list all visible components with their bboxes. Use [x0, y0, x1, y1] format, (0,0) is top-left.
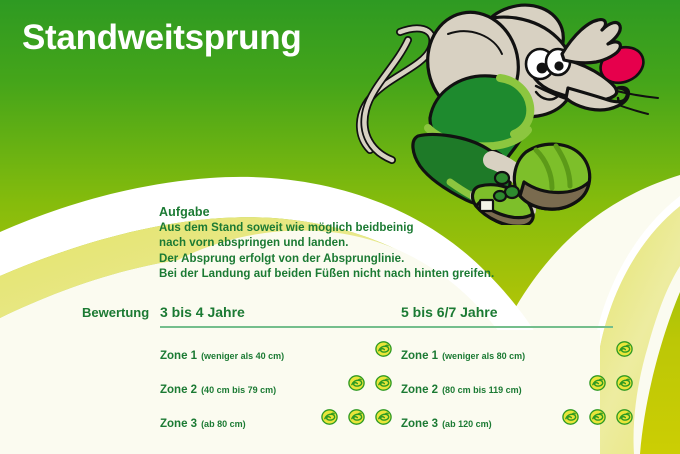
- green-mouse-badge-icon: [348, 375, 365, 391]
- green-mouse-badge-icon: [616, 375, 633, 391]
- task-heading: Aufgabe: [159, 205, 494, 219]
- zone-row: Zone 2(40 cm bis 79 cm): [160, 375, 400, 409]
- zone-token-group: [562, 341, 633, 357]
- task-block: Aufgabe Aus dem Stand soweit wie möglich…: [159, 205, 494, 283]
- zone-row: Zone 1(weniger als 80 cm): [401, 341, 641, 375]
- green-mouse-badge-icon: [616, 409, 633, 425]
- zone-token-group: [562, 375, 633, 391]
- green-mouse-badge-icon: [375, 375, 392, 391]
- zone-token-group: [321, 341, 392, 357]
- zone-column-1: Zone 1(weniger als 40 cm)Zone 2(40 cm bi…: [160, 341, 400, 443]
- zone-row: Zone 2(80 cm bis 119 cm): [401, 375, 641, 409]
- zone-row: Zone 3(ab 120 cm): [401, 409, 641, 443]
- zone-range: (ab 80 cm): [201, 419, 246, 429]
- green-mouse-badge-icon: [562, 409, 579, 425]
- zone-label: Zone 1(weniger als 80 cm): [401, 346, 525, 364]
- zone-name: Zone 1: [401, 350, 438, 362]
- page-title: Standweitsprung: [22, 18, 301, 58]
- green-mouse-badge-icon: [348, 409, 365, 425]
- header-divider: [160, 326, 613, 328]
- task-line-3: Der Absprung erfolgt von der Absprunglin…: [159, 252, 494, 267]
- zone-name: Zone 3: [401, 418, 438, 430]
- task-line-2: nach vorn abspringen und landen.: [159, 236, 494, 251]
- task-line-1: Aus dem Stand soweit wie möglich beidbei…: [159, 221, 494, 236]
- zone-range: (ab 120 cm): [442, 419, 492, 429]
- age-group-header-2: 5 bis 6/7 Jahre: [401, 304, 498, 320]
- zone-name: Zone 3: [160, 418, 197, 430]
- zone-row: Zone 1(weniger als 40 cm): [160, 341, 400, 375]
- zone-range: (weniger als 80 cm): [442, 351, 525, 361]
- green-mouse-badge-icon: [375, 409, 392, 425]
- zone-name: Zone 1: [160, 350, 197, 362]
- zone-range: (weniger als 40 cm): [201, 351, 284, 361]
- green-mouse-badge-icon: [321, 409, 338, 425]
- zone-token-group: [562, 409, 633, 425]
- age-group-header-1: 3 bis 4 Jahre: [160, 304, 245, 320]
- jumping-mouse-mascot: [330, 0, 680, 225]
- zone-label: Zone 2(40 cm bis 79 cm): [160, 380, 276, 398]
- zone-range: (40 cm bis 79 cm): [201, 385, 276, 395]
- standweitsprung-card: Standweitsprung Aufgabe Aus dem Stand so…: [0, 0, 680, 454]
- task-line-4: Bei der Landung auf beiden Füßen nicht n…: [159, 267, 494, 282]
- zone-label: Zone 3(ab 120 cm): [401, 414, 492, 432]
- zone-name: Zone 2: [401, 384, 438, 396]
- zone-column-2: Zone 1(weniger als 80 cm)Zone 2(80 cm bi…: [401, 341, 641, 443]
- zone-token-group: [321, 375, 392, 391]
- zone-name: Zone 2: [160, 384, 197, 396]
- green-mouse-badge-icon: [375, 341, 392, 357]
- zone-token-group: [321, 409, 392, 425]
- zone-label: Zone 1(weniger als 40 cm): [160, 346, 284, 364]
- green-mouse-badge-icon: [616, 341, 633, 357]
- zone-range: (80 cm bis 119 cm): [442, 385, 522, 395]
- zone-row: Zone 3(ab 80 cm): [160, 409, 400, 443]
- green-mouse-badge-icon: [589, 409, 606, 425]
- zone-label: Zone 3(ab 80 cm): [160, 414, 246, 432]
- zone-label: Zone 2(80 cm bis 119 cm): [401, 380, 522, 398]
- green-mouse-badge-icon: [589, 375, 606, 391]
- evaluation-label: Bewertung: [82, 305, 149, 320]
